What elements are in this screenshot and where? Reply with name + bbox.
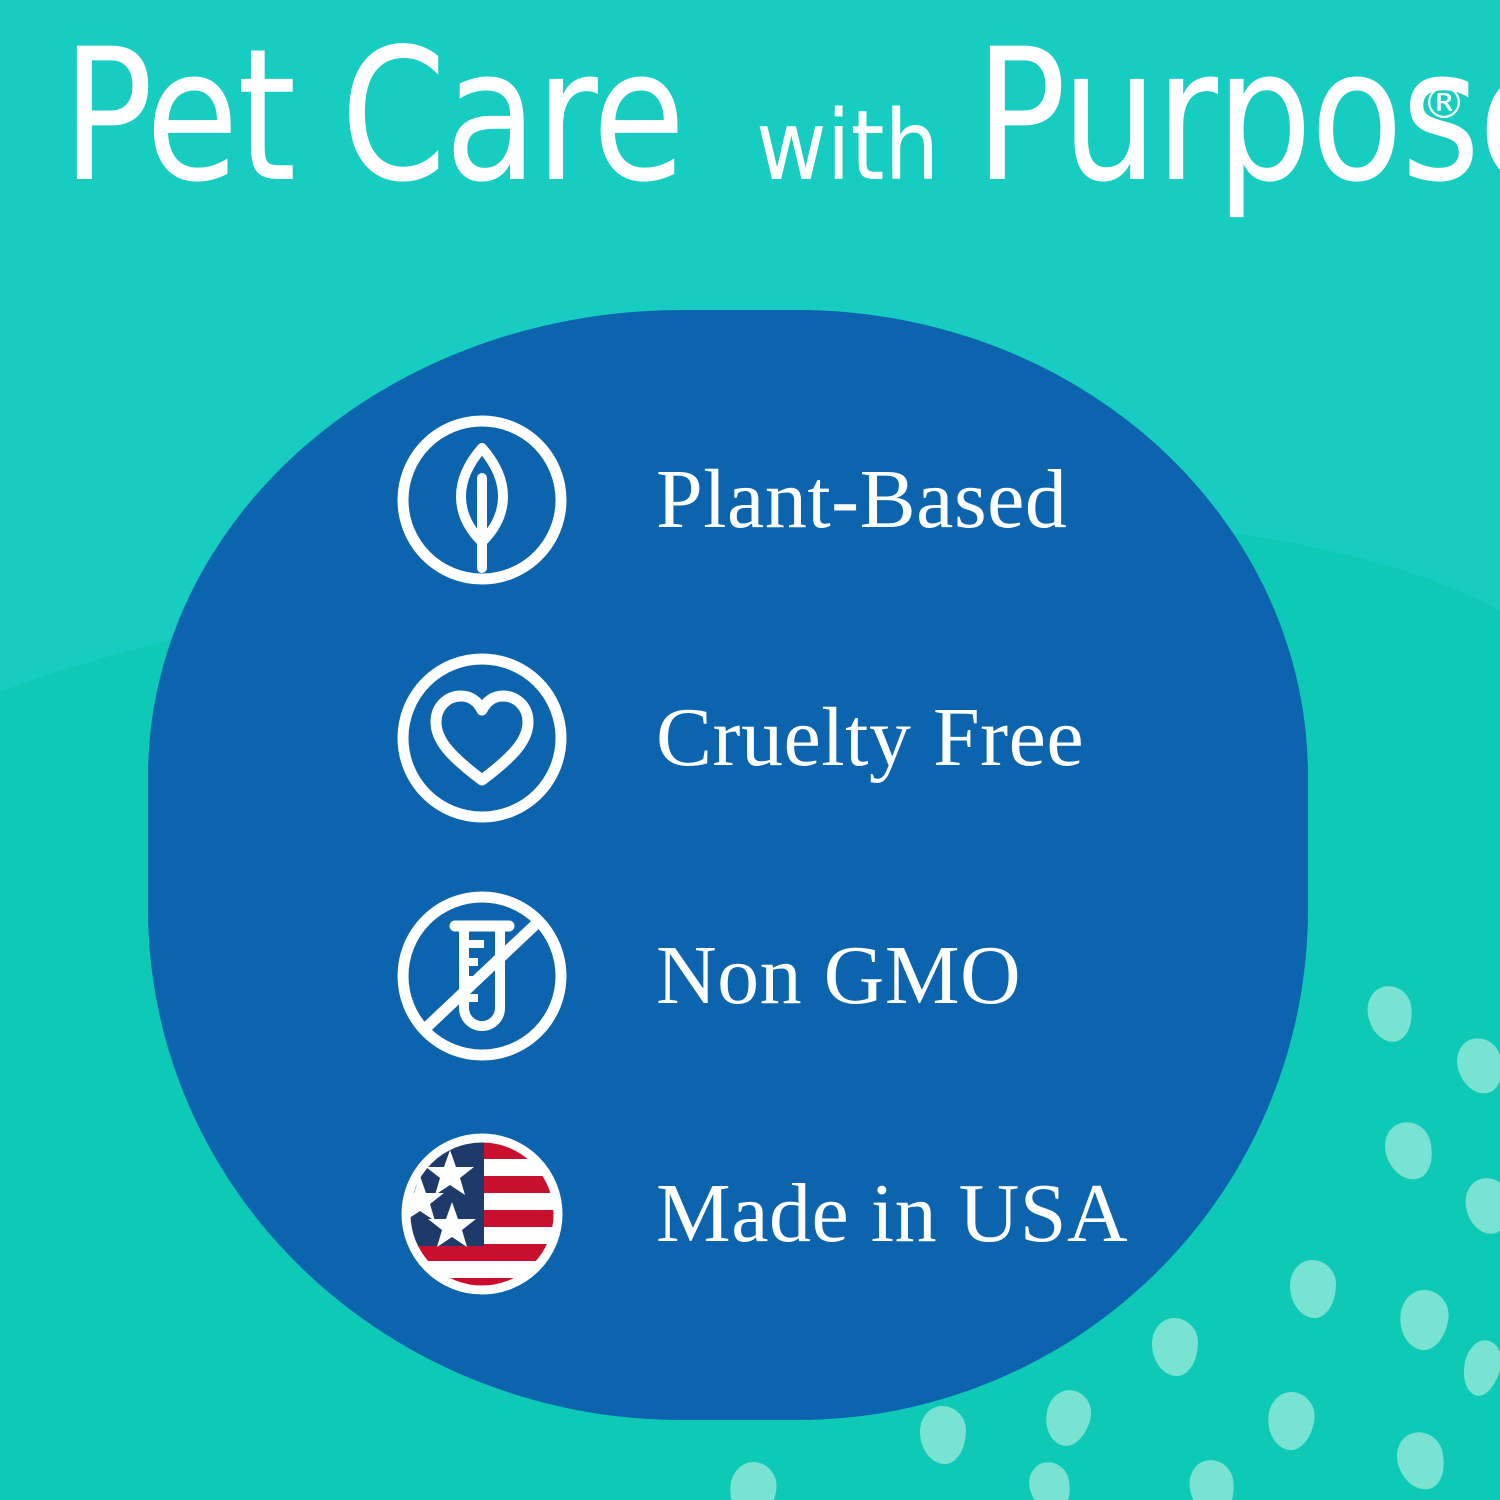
registered-trademark-icon: ® <box>1422 82 1466 126</box>
feature-label: Made in USA <box>656 1172 1128 1256</box>
promo-graphic: Pet Care with Purpose ® Plant-Based <box>0 0 1500 1500</box>
headline-part-one: Pet Care <box>62 24 684 211</box>
usa-flag-circle-icon <box>392 1124 572 1304</box>
feature-label: Plant-Based <box>656 458 1067 542</box>
feature-list: Plant-Based Cruelty Free <box>392 404 1252 1310</box>
leaf-in-circle-icon <box>392 410 572 590</box>
feature-label: Cruelty Free <box>656 696 1084 780</box>
headline-connector: with <box>738 98 952 194</box>
feature-row: Plant-Based <box>392 404 1252 596</box>
no-gmo-test-tube-icon <box>392 886 572 1066</box>
feature-label: Non GMO <box>656 934 1021 1018</box>
page-title: Pet Care with Purpose ® <box>62 24 1482 211</box>
heart-in-circle-icon <box>392 648 572 828</box>
feature-row: Made in USA <box>392 1118 1252 1310</box>
feature-row: Cruelty Free <box>392 642 1252 834</box>
feature-row: Non GMO <box>392 880 1252 1072</box>
